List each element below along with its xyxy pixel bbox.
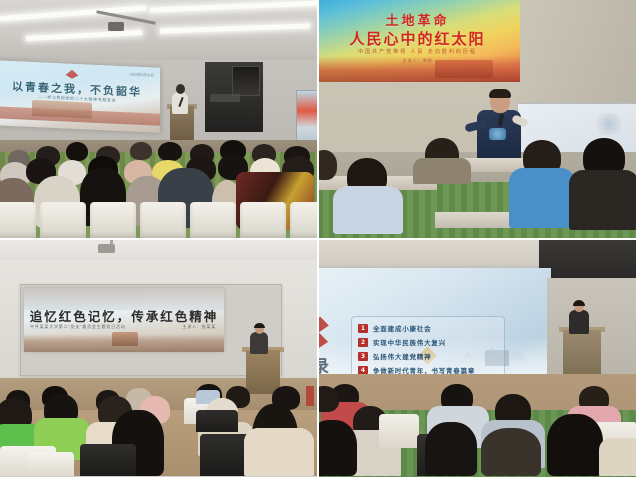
photo-top-right: 土地革命 人民心中的红太阳 中国共产党带领 人民 走向胜利的历程 主讲人：李明	[317, 0, 636, 238]
chair	[40, 202, 86, 238]
tiananmen-illustration	[32, 100, 92, 119]
ceiling	[0, 238, 317, 262]
wall	[517, 0, 636, 110]
audience-head	[158, 142, 182, 161]
list-item-label: 弘扬伟大建党精神	[373, 351, 431, 361]
list-number-badge: 3	[358, 352, 368, 361]
audience-head	[425, 422, 477, 476]
photo-top-left: 2023年5月20日 以青春之我，不负韶华 ——学习贯彻党的二十大精神专题宣讲	[0, 0, 317, 238]
row-divider	[0, 238, 636, 240]
podium	[246, 350, 280, 394]
student-body	[413, 158, 471, 184]
chair-row	[0, 196, 317, 238]
chair	[240, 202, 286, 238]
chair	[80, 444, 136, 476]
audience-head	[481, 428, 541, 476]
slide-title: 追忆红色记忆，传承红色精神	[24, 306, 224, 325]
chair	[140, 202, 186, 238]
slide-title-line2: 人民心中的红太阳	[317, 28, 520, 49]
whiteboard-marks	[592, 113, 626, 135]
student-body	[569, 170, 636, 230]
host	[569, 310, 589, 334]
slide-subtitle-right: 主讲人：张某某	[182, 324, 216, 330]
photo-bottom-right: 目录 1 全面建成小康社会 2 实现中华民族伟大复兴 3 弘扬伟大建党精神 4 …	[317, 238, 636, 477]
audience-body	[599, 438, 636, 476]
slide-subtitle-left: 中共某某大学第二“党支”委员会主题党日活动	[30, 324, 170, 330]
list-item-label: 实现中华民族伟大复兴	[373, 337, 446, 347]
wall-sign	[210, 94, 240, 102]
party-emblem-icon	[64, 69, 80, 79]
chair	[28, 452, 74, 476]
audience-head	[130, 142, 152, 160]
photo-bottom-left: 追忆红色记忆，传承红色精神 中共某某大学第二“党支”委员会主题党日活动 主讲人：…	[0, 238, 317, 477]
chair	[0, 202, 36, 238]
projection-screen: 目录 1 全面建成小康社会 2 实现中华民族伟大复兴 3 弘扬伟大建党精神 4 …	[317, 268, 551, 378]
projector-icon	[108, 22, 124, 31]
chair	[190, 202, 236, 238]
slide-date: 2023年5月20日	[130, 72, 154, 78]
audience-body	[244, 428, 314, 476]
host	[250, 332, 268, 354]
photo-collage: 2023年5月20日 以青春之我，不负韶华 ——学习贯彻党的二十大精神专题宣讲	[0, 0, 636, 477]
slide-subtitle: 中国共产党带领 人民 走向胜利的历程	[317, 48, 520, 55]
projection-screen: 追忆红色记忆，传承红色精神 中共某某大学第二“党支”委员会主题党日活动 主讲人：…	[24, 288, 224, 352]
party-emblem-icon	[317, 316, 331, 350]
projection-screen: 2023年5月20日 以青春之我，不负韶华 ——学习贯彻党的二十大精神专题宣讲	[0, 60, 160, 133]
slide-title-line1: 土地革命	[317, 10, 520, 29]
shirt-logo	[489, 128, 506, 140]
audience-head	[317, 386, 339, 412]
pagoda-illustration	[112, 332, 138, 346]
audience-head	[66, 142, 88, 161]
projection-slide: 土地革命 人民心中的红太阳 中国共产党带领 人民 走向胜利的历程 主讲人：李明	[317, 0, 520, 82]
wall-speaker	[232, 66, 260, 96]
audience-head	[547, 414, 603, 476]
student-body	[509, 168, 575, 228]
list-item-label: 全面建成小康社会	[373, 323, 431, 333]
chair	[379, 414, 419, 448]
list-item: 1 全面建成小康社会	[358, 322, 431, 334]
chair	[290, 202, 317, 238]
audience-head	[317, 420, 357, 476]
chair	[196, 410, 238, 432]
presenter	[477, 90, 521, 160]
hammer-sickle-shape	[317, 316, 331, 350]
contents-list: 1 全面建成小康社会 2 实现中华民族伟大复兴 3 弘扬伟大建党精神 4 争做新…	[351, 316, 505, 380]
student-head	[317, 150, 337, 180]
list-number-badge: 2	[358, 338, 368, 347]
red-object	[306, 386, 314, 406]
chair	[90, 202, 136, 238]
projector-icon	[98, 244, 115, 253]
slide-presenter: 主讲人：李明	[317, 58, 520, 64]
list-item: 3 弘扬伟大建党精神	[358, 350, 431, 362]
student-body	[333, 186, 403, 234]
presenter-hair	[489, 89, 511, 98]
list-number-badge: 1	[358, 324, 368, 333]
list-item: 2 实现中华民族伟大复兴	[358, 336, 446, 348]
